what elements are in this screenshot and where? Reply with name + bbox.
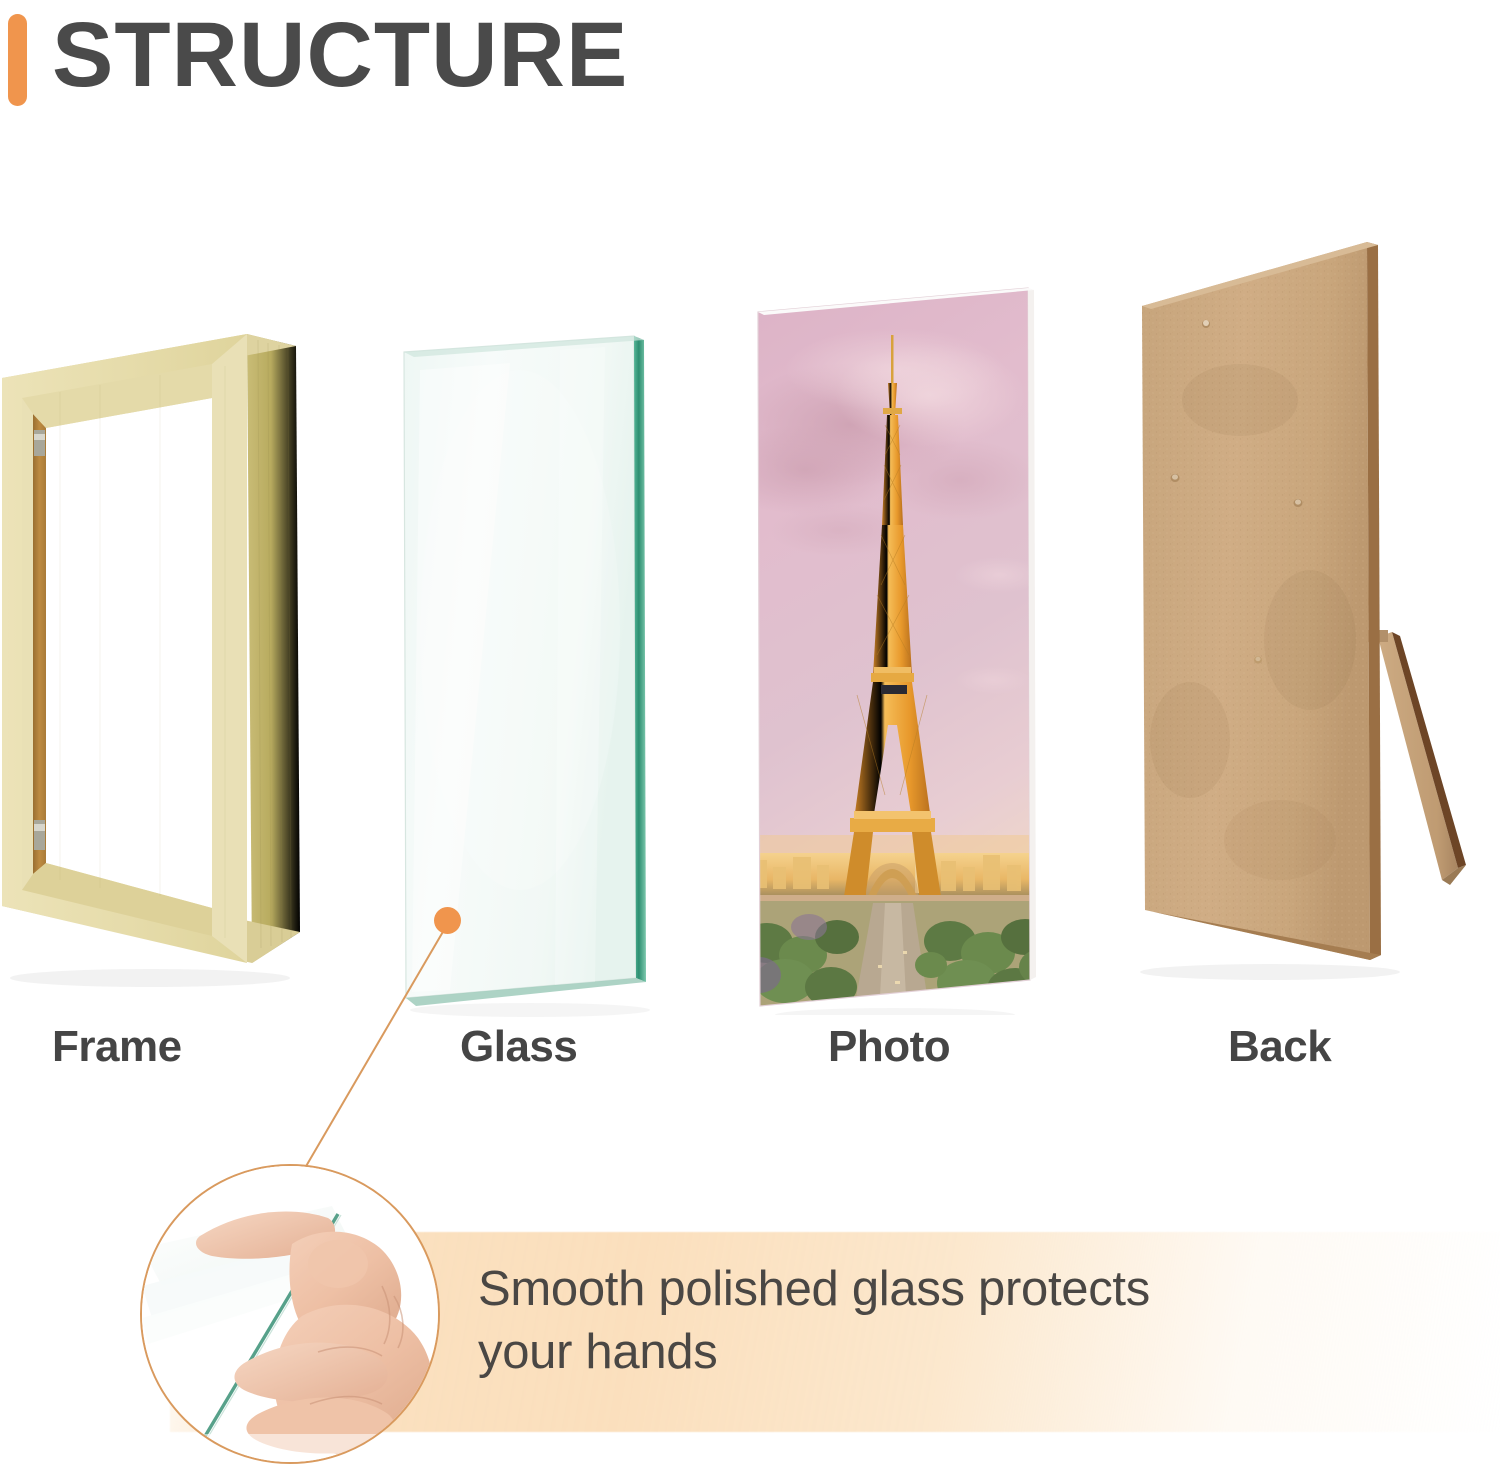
component-photo [745, 275, 1045, 1005]
hand-inset-circle [140, 1164, 440, 1464]
frame-rabbet-lip [22, 398, 33, 890]
back-easel-leg [1378, 632, 1458, 880]
label-frame: Frame [52, 1022, 182, 1072]
feature-caption: Smooth polished glass protects your hand… [478, 1258, 1378, 1383]
frame-window-opening [46, 398, 212, 908]
label-back: Back [1228, 1022, 1331, 1072]
frame-clip-top [34, 430, 45, 456]
back-easel-leg-edge [1392, 632, 1466, 868]
frame-clip-top-highlight [34, 434, 45, 440]
feature-caption-line-1: Smooth polished glass protects [478, 1258, 1378, 1321]
hand-thumbnail [308, 1240, 368, 1288]
frame-inner-rabbet [33, 414, 46, 874]
backboard-easel-icon [1120, 220, 1500, 1010]
hand-inset-callout [140, 1164, 440, 1464]
component-frame [0, 318, 330, 998]
frame-side-depth [247, 334, 300, 963]
photo-print-icon [745, 275, 1055, 1015]
frame-shadow [10, 969, 290, 987]
component-exploded-view [0, 0, 1500, 1030]
frame-inner-right-bevel [212, 334, 247, 963]
feature-caption-line-2: your hands [478, 1321, 1378, 1384]
photo-shadow [775, 1008, 1015, 1015]
label-glass: Glass [460, 1022, 577, 1072]
back-shadow [1140, 964, 1400, 980]
glass-right-edge [634, 336, 646, 982]
picture-frame-icon [0, 318, 330, 998]
hand-holding-glass-icon [142, 1166, 440, 1464]
component-glass [390, 330, 690, 1010]
glass-shadow [410, 1003, 650, 1017]
label-photo: Photo [828, 1022, 950, 1072]
frame-clip-bottom-highlight [34, 824, 45, 831]
glass-sheen [420, 370, 620, 890]
component-back [1120, 220, 1500, 1000]
callout-dot [434, 907, 461, 934]
